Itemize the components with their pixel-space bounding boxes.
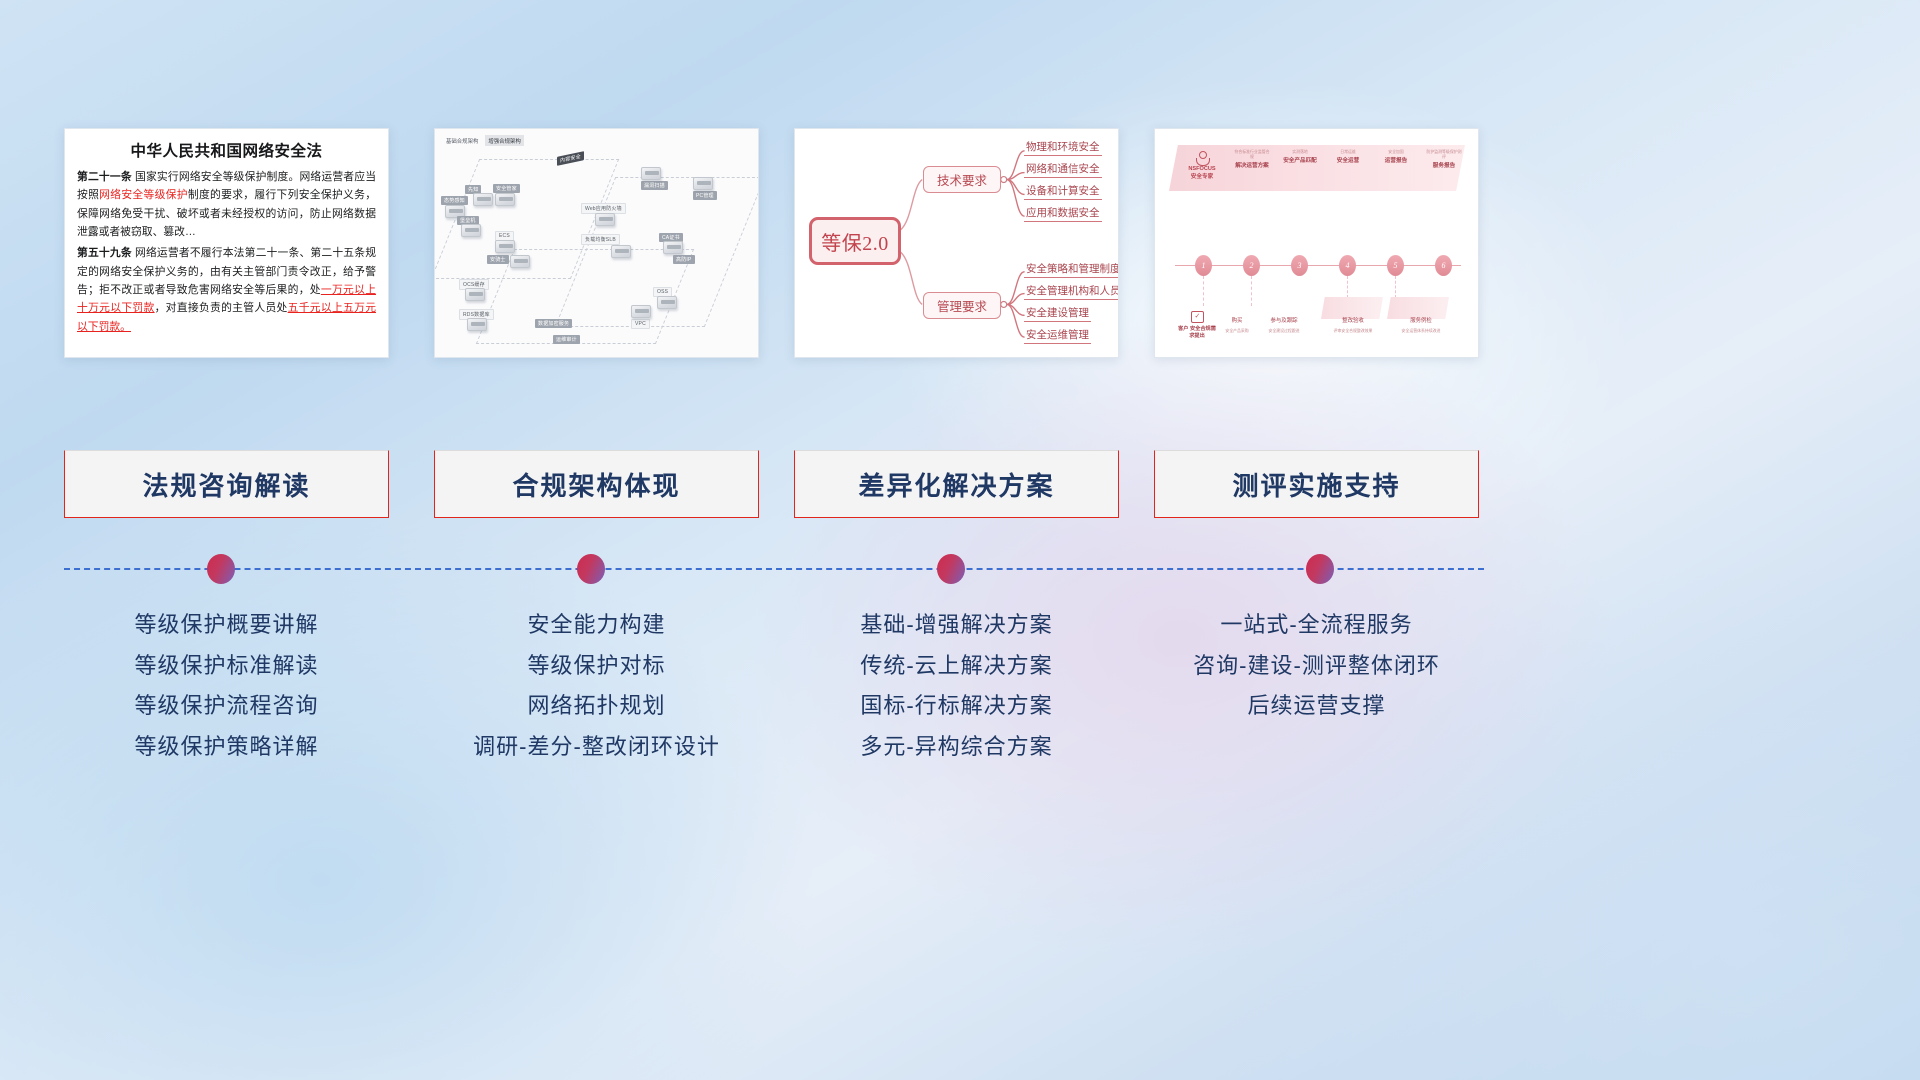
timeline-dot-4 <box>1306 554 1334 584</box>
detail-list-architecture: 安全能力构建 等级保护对标 网络拓扑规划 调研-差分-整改闭环设计 <box>434 605 759 768</box>
timeline-step-5: 5 <box>1387 255 1404 276</box>
list-item: 调研-差分-整改闭环设计 <box>434 727 759 768</box>
heading-assessment-support[interactable]: 测评实施支持 <box>1154 450 1479 518</box>
mindmap-leaf-physical-env: 物理和环境安全 <box>1024 141 1102 156</box>
node-icon-anqishi <box>510 255 530 268</box>
bottom-item-caption: 安全建设过程跟进 <box>1261 328 1307 333</box>
client-checkbox-icon <box>1191 311 1204 323</box>
heading-differentiated-solution[interactable]: 差异化解决方案 <box>794 450 1119 518</box>
node-label-security-butler: 安全管家 <box>493 184 520 193</box>
card-dengbao-mindmap[interactable]: 等保2.0 技术要求 管理要求 物理和环境安全 网络和通信安全 设备和计算安全 … <box>794 128 1119 358</box>
law-document: 中华人民共和国网络安全法 第二十一条 国家实行网络安全等级保护制度。网络运营者应… <box>65 129 388 344</box>
law-article-21: 第二十一条 国家实行网络安全等级保护制度。网络运营者应当按照网络安全等级保护制度… <box>77 168 376 241</box>
list-item: 一站式-全流程服务 <box>1154 605 1479 646</box>
node-icon-oss <box>657 296 677 309</box>
architecture-tabs[interactable]: 基础合规架构 增强合规架构 <box>443 135 524 146</box>
service-name: 安全运营 <box>1337 158 1359 164</box>
list-item: 等级保护策略详解 <box>64 727 389 768</box>
bottom-item-name: 购买 <box>1232 318 1243 324</box>
timeline-dot-3 <box>937 554 965 584</box>
mindmap-branch-management: 管理要求 <box>923 292 1001 319</box>
expert-person-icon <box>1196 151 1209 165</box>
timeline-axis <box>1175 265 1461 266</box>
client-caption: 安全合规需求提出 <box>1189 326 1216 339</box>
timeline-dash-5 <box>1395 276 1396 298</box>
mindmap: 等保2.0 技术要求 管理要求 物理和环境安全 网络和通信安全 设备和计算安全 … <box>795 129 1118 357</box>
service-caption: 安全加固 <box>1377 149 1415 154</box>
bottom-trapezoid-1 <box>1321 297 1383 319</box>
architecture-diagram: 基础合规架构 增强合规架构 内容安全 安全管家 先知 态势感知 堡垒机 ECS … <box>435 129 758 357</box>
bottom-item-participate: 参与及跟踪 安全建设过程跟进 <box>1261 318 1307 333</box>
timeline-dash-4 <box>1347 276 1348 298</box>
node-label-anti-ddos-ip: 高防IP <box>673 255 695 264</box>
node-icon-rds <box>467 318 487 331</box>
detail-list-regulation: 等级保护概要讲解 等级保护标准解读 等级保护流程咨询 等级保护策略详解 <box>64 605 389 768</box>
service-item: 防护监测等级保护测评 服务报告 <box>1425 149 1463 170</box>
mindmap-leaf-operations: 安全运维管理 <box>1024 329 1091 344</box>
list-item: 传统-云上解决方案 <box>794 646 1119 687</box>
node-label-anqishi: 安骑士 <box>487 255 509 264</box>
node-label-situational-awareness: 态势感知 <box>441 196 468 205</box>
timeline-step-4: 4 <box>1339 255 1356 276</box>
list-item: 国标-行标解决方案 <box>794 686 1119 727</box>
timeline-step-1: 1 <box>1195 255 1212 276</box>
client-label: 客户 <box>1178 326 1188 332</box>
list-item: 安全能力构建 <box>434 605 759 646</box>
article-59-text-b: ，对直接负责的主管人员处 <box>155 302 288 314</box>
service-item: 实测落地 安全产品匹配 <box>1281 149 1319 170</box>
node-icon-xianzhi <box>473 193 493 206</box>
timeline-step-3: 3 <box>1291 255 1308 276</box>
mindmap-leaf-org-personnel: 安全管理机构和人员 <box>1024 285 1119 300</box>
article-21-highlight: 网络安全等级保护 <box>99 189 188 201</box>
mindmap-leaf-app-data: 应用和数据安全 <box>1024 207 1102 222</box>
timeline-dashed-line <box>64 568 1484 570</box>
timeline-step-2: 2 <box>1243 255 1260 276</box>
bottom-item-caption: 安全产品采购 <box>1217 328 1257 333</box>
list-item: 基础-增强解决方案 <box>794 605 1119 646</box>
bottom-item-caption: 评审安全合规整改效果 <box>1327 328 1379 333</box>
mindmap-leaf-policy-system: 安全策略和管理制度 <box>1024 263 1119 278</box>
tab-basic-architecture[interactable]: 基础合规架构 <box>443 135 481 146</box>
list-item: 网络拓扑规划 <box>434 686 759 727</box>
service-items: 符合标准行业监管合规 解决运营方案 实测落地 安全产品匹配 日常运维 安全运营 … <box>1233 149 1463 170</box>
list-item: 等级保护概要讲解 <box>64 605 389 646</box>
heading-regulation-consulting[interactable]: 法规咨询解读 <box>64 450 389 518</box>
service-name: 运营报告 <box>1385 158 1407 164</box>
bottom-trapezoid-2 <box>1387 297 1449 319</box>
node-label-slb: 负载均衡SLB <box>581 234 620 245</box>
list-item: 等级保护标准解读 <box>64 646 389 687</box>
bottom-item-caption: 安全运营体系持续改进 <box>1395 328 1447 333</box>
service-name: 安全产品匹配 <box>1283 158 1317 164</box>
node-icon-vpc <box>631 305 651 318</box>
bottom-item-name: 整改验收 <box>1342 318 1364 324</box>
node-icon-ecs <box>495 240 515 253</box>
service-caption: 日常运维 <box>1329 149 1367 154</box>
nsfocus-role: 安全专家 <box>1191 174 1213 180</box>
service-caption: 符合标准行业监管合规 <box>1233 149 1271 159</box>
timeline-dot-2 <box>577 554 605 584</box>
node-icon-ca-certificate <box>663 241 683 254</box>
node-icon-security-butler <box>495 193 515 206</box>
detail-list-assessment: 一站式-全流程服务 咨询-建设-测评整体闭环 后续运营支撑 <box>1154 605 1479 727</box>
service-name: 服务报告 <box>1433 163 1455 169</box>
node-label-pc-management: PC管理 <box>693 191 717 200</box>
mindmap-core-node: 等保2.0 <box>809 217 901 265</box>
bottom-item-name: 参与及跟踪 <box>1271 318 1298 324</box>
bottom-item-name: 服务例检 <box>1410 318 1432 324</box>
service-item: 安全加固 运营报告 <box>1377 149 1415 170</box>
timeline-dot-1 <box>207 554 235 584</box>
bottom-item-purchase: 购买 安全产品采购 <box>1217 318 1257 333</box>
timeline-step-6: 6 <box>1435 255 1452 276</box>
card-nsfocus-timeline[interactable]: NSFOCUS 安全专家 符合标准行业监管合规 解决运营方案 实测落地 安全产品… <box>1154 128 1479 358</box>
list-item: 多元-异构综合方案 <box>794 727 1119 768</box>
list-item: 咨询-建设-测评整体闭环 <box>1154 646 1479 687</box>
list-item: 后续运营支撑 <box>1154 686 1479 727</box>
node-icon-slb <box>611 245 631 258</box>
mindmap-leaf-construction: 安全建设管理 <box>1024 307 1091 322</box>
service-caption: 实测落地 <box>1281 149 1319 154</box>
visual-cards-row: 中华人民共和国网络安全法 第二十一条 国家实行网络安全等级保护制度。网络运营者应… <box>0 128 1920 363</box>
headings-row: 法规咨询解读 合规架构体现 差异化解决方案 测评实施支持 <box>0 450 1920 520</box>
node-label-ops-audit: 运维审计 <box>553 335 580 344</box>
timeline-dash-2 <box>1251 276 1252 306</box>
timeline-dash-1 <box>1203 276 1204 306</box>
list-item: 等级保护流程咨询 <box>64 686 389 727</box>
node-label-data-encryption: 数据加密服务 <box>535 319 572 328</box>
client-block: 客户 安全合规需求提出 <box>1177 311 1217 339</box>
detail-list-solution: 基础-增强解决方案 传统-云上解决方案 国标-行标解决方案 多元-异构综合方案 <box>794 605 1119 768</box>
mindmap-leaf-device-compute: 设备和计算安全 <box>1024 185 1102 200</box>
bottom-item-inspection: 服务例检 安全运营体系持续改进 <box>1395 318 1447 333</box>
mindmap-leaf-network-comm: 网络和通信安全 <box>1024 163 1102 178</box>
nsfocus-expert-block: NSFOCUS 安全专家 <box>1179 151 1225 181</box>
article-59-label: 第五十九条 <box>77 247 132 259</box>
law-article-59: 第五十九条 网络运营者不履行本法第二十一条、第二十五条规定的网络安全保护义务的，… <box>77 244 376 336</box>
law-title: 中华人民共和国网络安全法 <box>77 139 376 161</box>
mindmap-branch-technical: 技术要求 <box>923 166 1001 193</box>
service-item: 符合标准行业监管合规 解决运营方案 <box>1233 149 1271 170</box>
nsfocus-service-flow: NSFOCUS 安全专家 符合标准行业监管合规 解决运营方案 实测落地 安全产品… <box>1155 129 1478 357</box>
heading-compliance-architecture[interactable]: 合规架构体现 <box>434 450 759 518</box>
tab-enhanced-architecture[interactable]: 增强合规架构 <box>485 135 523 146</box>
list-item: 等级保护对标 <box>434 646 759 687</box>
service-caption: 防护监测等级保护测评 <box>1425 149 1463 159</box>
node-icon-waf <box>595 213 615 226</box>
node-icon-vuln-scan <box>641 167 661 180</box>
service-name: 解决运营方案 <box>1235 163 1269 169</box>
article-21-label: 第二十一条 <box>77 171 132 183</box>
nsfocus-brand: NSFOCUS <box>1188 166 1215 172</box>
node-icon-pc-management <box>693 177 713 190</box>
node-label-vuln-scan: 漏洞扫描 <box>641 181 668 190</box>
service-item: 日常运维 安全运营 <box>1329 149 1367 170</box>
node-icon-ocs-cache <box>465 288 485 301</box>
node-icon-bastion-host <box>461 224 481 237</box>
bottom-item-acceptance: 整改验收 评审安全合规整改效果 <box>1327 318 1379 333</box>
card-cybersecurity-law[interactable]: 中华人民共和国网络安全法 第二十一条 国家实行网络安全等级保护制度。网络运营者应… <box>64 128 389 358</box>
node-label-vpc: VPC <box>631 319 650 329</box>
card-cloud-architecture[interactable]: 基础合规架构 增强合规架构 内容安全 安全管家 先知 态势感知 堡垒机 ECS … <box>434 128 759 358</box>
